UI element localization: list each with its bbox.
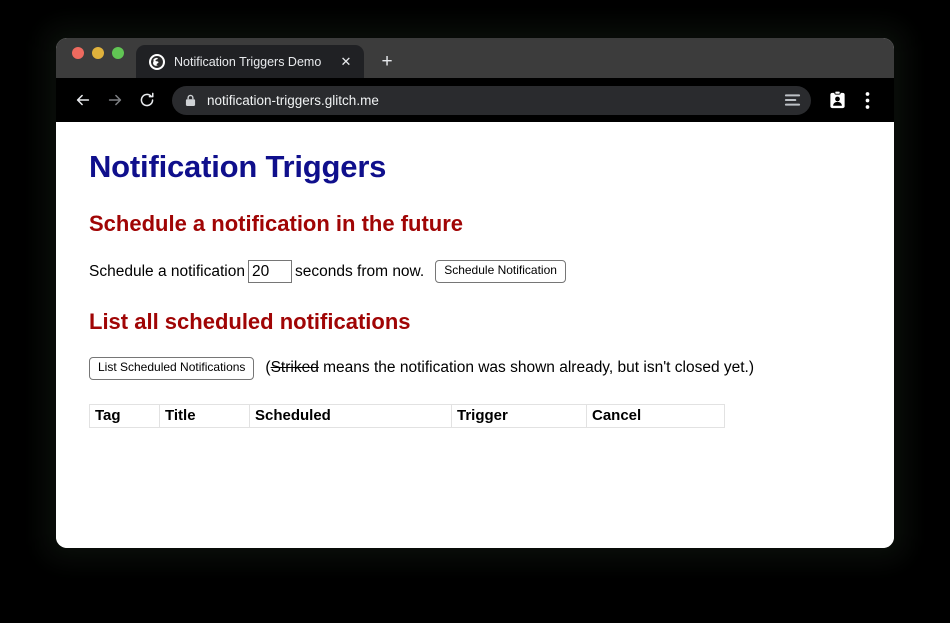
schedule-notification-button[interactable]: Schedule Notification xyxy=(435,260,566,283)
column-header-title: Title xyxy=(160,404,250,427)
close-icon[interactable]: ✕ xyxy=(336,52,356,72)
desktop-background: Notification Triggers Demo ✕ + xyxy=(0,0,950,623)
browser-toolbar: notification-triggers.glitch.me xyxy=(56,78,894,122)
schedule-section-heading: Schedule a notification in the future xyxy=(89,211,862,237)
kebab-menu-icon[interactable] xyxy=(853,86,881,114)
tab-title: Notification Triggers Demo xyxy=(174,55,330,69)
address-bar[interactable]: notification-triggers.glitch.me xyxy=(172,86,811,115)
list-section-heading: List all scheduled notifications xyxy=(89,309,862,335)
profile-card-icon[interactable] xyxy=(823,86,851,114)
maximize-window-button[interactable] xyxy=(112,47,124,59)
seconds-input[interactable] xyxy=(248,260,292,283)
back-arrow-icon[interactable] xyxy=(68,85,98,115)
table-header-row: Tag Title Scheduled Trigger Cancel xyxy=(90,404,725,427)
globe-icon xyxy=(149,54,165,70)
schedule-label-before: Schedule a notification xyxy=(89,263,245,281)
window-controls xyxy=(56,38,134,78)
minimize-window-button[interactable] xyxy=(92,47,104,59)
browser-tab-active[interactable]: Notification Triggers Demo ✕ xyxy=(136,45,364,78)
lock-icon xyxy=(185,94,196,107)
page-title: Notification Triggers xyxy=(89,149,862,185)
list-scheduled-notifications-button[interactable]: List Scheduled Notifications xyxy=(89,357,254,380)
note-rest-text: means the notification was shown already… xyxy=(319,359,754,376)
tab-strip: Notification Triggers Demo ✕ + xyxy=(56,38,894,78)
browser-window: Notification Triggers Demo ✕ + xyxy=(56,38,894,548)
column-header-trigger: Trigger xyxy=(452,404,587,427)
column-header-tag: Tag xyxy=(90,404,160,427)
close-window-button[interactable] xyxy=(72,47,84,59)
striked-explanation-note: (Striked means the notification was show… xyxy=(265,359,754,377)
list-controls-row: List Scheduled Notifications (Striked me… xyxy=(89,357,862,380)
new-tab-button[interactable]: + xyxy=(373,47,401,75)
reader-mode-icon[interactable] xyxy=(784,93,801,107)
schedule-form-row: Schedule a notification seconds from now… xyxy=(89,260,862,283)
note-striked-word: Striked xyxy=(271,359,319,376)
schedule-button-wrapper: Schedule Notification xyxy=(435,260,566,283)
notifications-table: Tag Title Scheduled Trigger Cancel xyxy=(89,404,725,428)
address-bar-url: notification-triggers.glitch.me xyxy=(207,93,778,108)
schedule-label-after: seconds from now. xyxy=(295,263,424,281)
forward-arrow-icon xyxy=(100,85,130,115)
reload-icon[interactable] xyxy=(132,85,162,115)
page-content: Notification Triggers Schedule a notific… xyxy=(56,122,894,548)
column-header-cancel: Cancel xyxy=(587,404,725,427)
column-header-scheduled: Scheduled xyxy=(250,404,452,427)
